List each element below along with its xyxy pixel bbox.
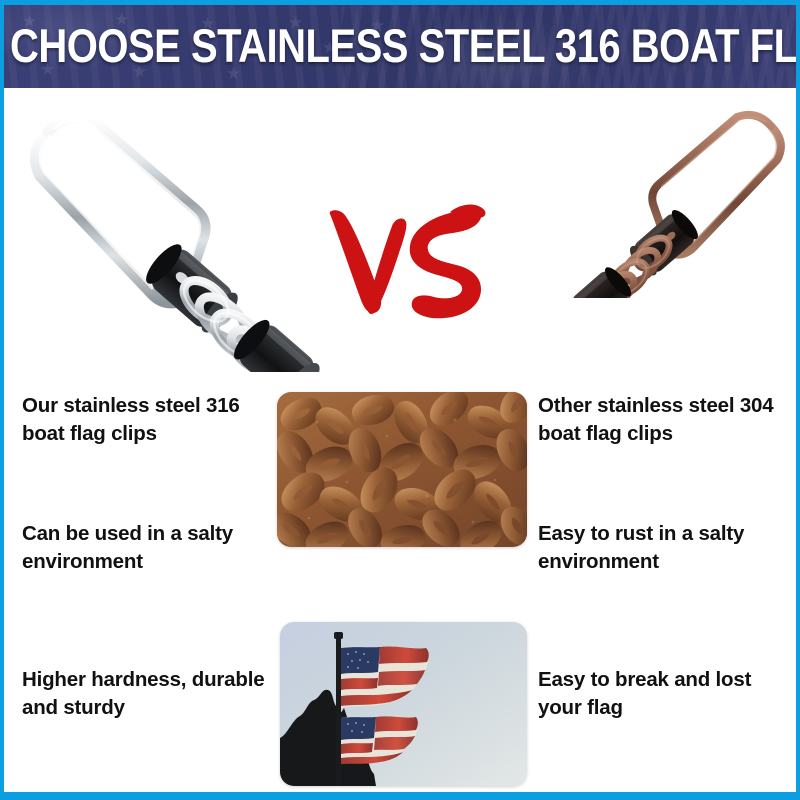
versus-graphic (322, 200, 492, 325)
stainless-steel-304-clip-image (549, 98, 799, 298)
product-showcase (4, 88, 796, 388)
feature-left-3: Higher hardness, durable and sturdy (22, 666, 272, 721)
american-flag-photo (280, 622, 527, 786)
feature-right-1: Other stainless steel 304 boat flag clip… (538, 392, 794, 447)
infographic-root: ★ ★ ★ ★ ★ ★ ★ ★ ★ ★ ★ ★ CHOOSE STAINLESS… (0, 0, 800, 800)
frame-border-right (796, 0, 800, 800)
comparison-row-3: Higher hardness, durable and sturdy (4, 622, 796, 792)
feature-right-2: Easy to rust in a salty environment (538, 520, 794, 575)
comparison-row-2: Can be used in a salty environment Easy … (4, 520, 796, 610)
feature-left-2: Can be used in a salty environment (22, 520, 272, 575)
feature-left-1: Our stainless steel 316 boat flag clips (22, 392, 272, 447)
feature-right-3: Easy to break and lost your flag (538, 666, 794, 721)
page-title: CHOOSE STAINLESS STEEL 316 BOAT FLAG CLI… (4, 20, 796, 73)
header-banner: ★ ★ ★ ★ ★ ★ ★ ★ ★ ★ ★ ★ CHOOSE STAINLESS… (4, 5, 796, 88)
stainless-steel-316-clip-image (10, 92, 330, 372)
frame-border-bottom (0, 792, 800, 800)
frame-border-left (0, 0, 4, 800)
frame-border-top (0, 0, 800, 5)
